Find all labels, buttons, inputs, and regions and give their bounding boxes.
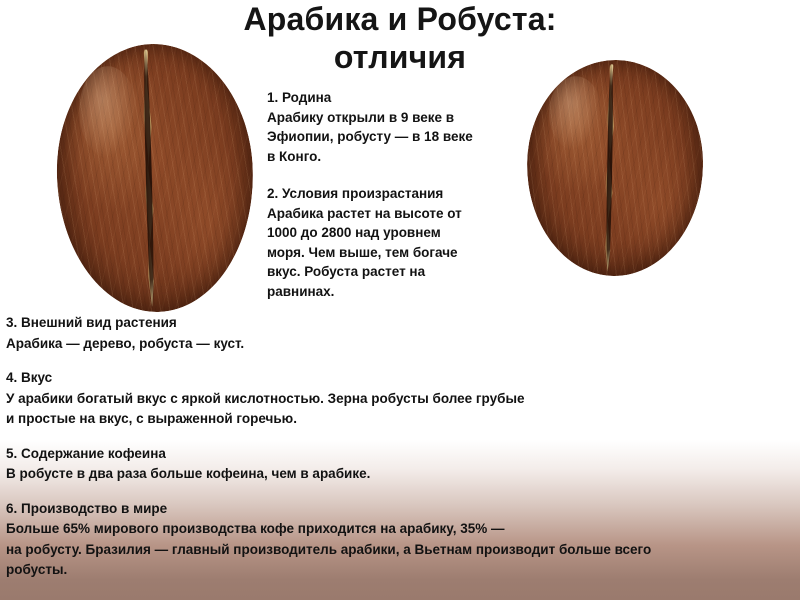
bean-texture-secondary [525,58,705,277]
coffee-bean-left-image [54,41,257,314]
section-item-5: 5. Содержание кофеина В робусте в два ра… [6,444,794,485]
section-item-2: 2. Условия произрастания Арабика растет … [267,184,517,301]
section-item-1: 1. Родина Арабику открыли в 9 веке в Эфи… [267,88,517,166]
page-title-line-2: отличия [180,38,620,76]
section-item-6: 6. Производство в мире Больше 65% мирово… [6,499,794,581]
infographic-page: Арабика и Робуста: отличия 1. Родина Ара… [0,0,800,600]
coffee-bean-right-image [525,58,705,277]
page-title-line-1: Арабика и Робуста: [180,0,620,38]
section-item-4: 4. Вкус У арабики богатый вкус с яркой к… [6,368,794,430]
page-title: Арабика и Робуста: отличия [180,0,620,76]
section-item-3: 3. Внешний вид растения Арабика — дерево… [6,313,794,354]
bottom-text-column: 3. Внешний вид растения Арабика — дерево… [6,313,794,581]
center-text-column: 1. Родина Арабику открыли в 9 веке в Эфи… [267,88,517,319]
